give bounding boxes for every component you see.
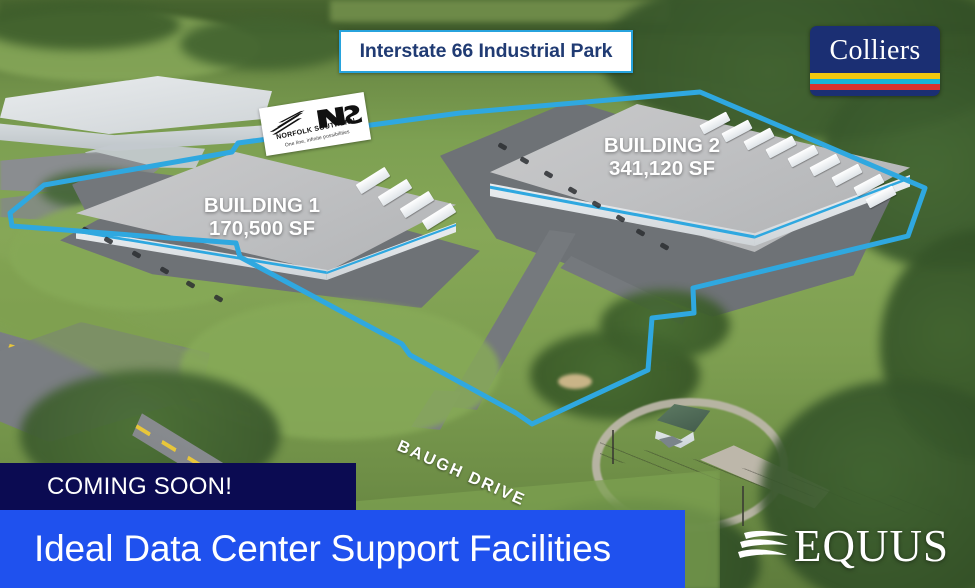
building-1-callout: BUILDING 1 170,500 SF	[180, 194, 344, 240]
colliers-logo[interactable]: Colliers	[810, 26, 940, 96]
tagline-banner: Ideal Data Center Support Facilities	[0, 510, 685, 588]
equus-wordmark: EQUUS	[794, 524, 949, 569]
marketing-site-rendering: Interstate 66 Industrial Park Colliers N…	[0, 0, 975, 588]
building-1-name: BUILDING 1	[180, 194, 344, 217]
coming-soon-text: COMING SOON!	[47, 473, 232, 501]
project-title-banner: Interstate 66 Industrial Park	[339, 30, 633, 73]
colliers-wordmark: Colliers	[810, 35, 940, 67]
coming-soon-banner: COMING SOON!	[0, 463, 356, 510]
tagline-text: Ideal Data Center Support Facilities	[34, 528, 611, 570]
building-2-name: BUILDING 2	[580, 134, 744, 157]
building-1-area: 170,500 SF	[180, 217, 344, 240]
building-2-callout: BUILDING 2 341,120 SF	[580, 134, 744, 180]
project-title-text: Interstate 66 Industrial Park	[360, 40, 613, 63]
colliers-stripe-bar	[810, 73, 940, 90]
site-boundary-line	[10, 92, 925, 424]
equus-logo[interactable]: EQUUS	[738, 520, 949, 572]
building-2-area: 341,120 SF	[580, 157, 744, 180]
equus-swoosh-icon	[738, 524, 790, 568]
colliers-stripe-red	[810, 84, 940, 90]
